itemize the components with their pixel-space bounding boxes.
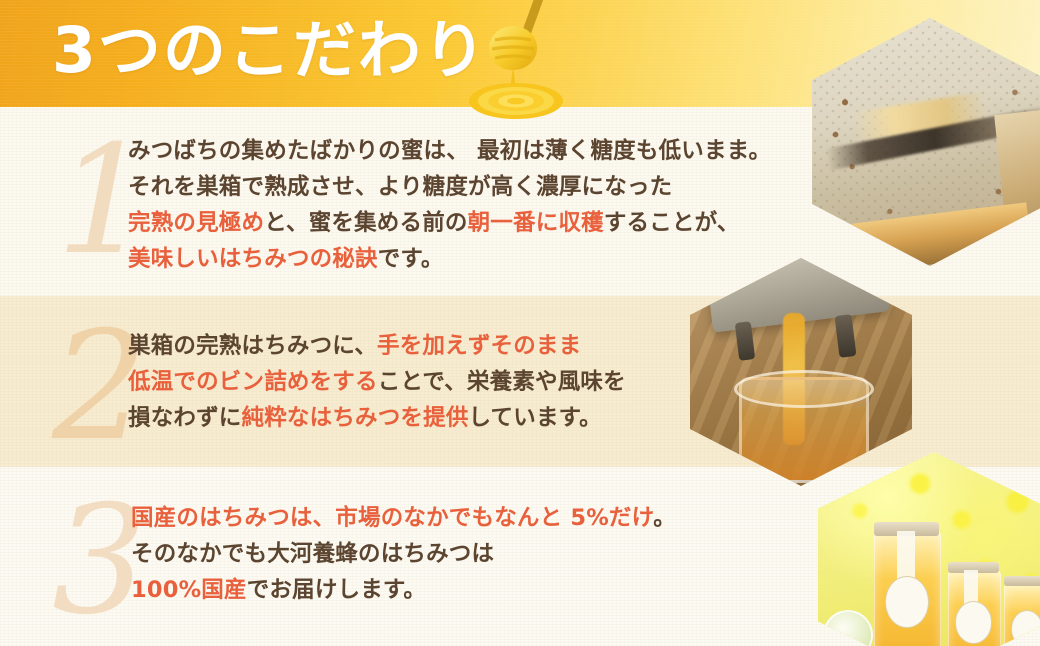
text-line: それを巣箱で熟成させ、より糖度が高く濃厚になった	[128, 169, 771, 205]
plain-phrase: です。	[378, 246, 444, 272]
honey-jar-large-ribbon	[897, 531, 916, 581]
highlighted-phrase: 完熟の見極め	[128, 210, 264, 236]
highlighted-phrase: 手を加えずそのまま	[377, 333, 581, 359]
plain-phrase: ことで、栄養素や風味を	[378, 369, 626, 395]
plain-phrase: 。	[653, 505, 676, 531]
plain-phrase: でお届けします。	[247, 577, 426, 603]
plain-phrase: しています。	[469, 405, 602, 431]
plain-phrase: それを巣箱で熟成させ、より糖度が高く濃厚になった	[128, 174, 672, 200]
text-line: そのなかでも大河養蜂のはちみつは	[131, 536, 676, 572]
page-title: 3つのこだわり	[52, 6, 488, 96]
plain-phrase: 巣箱の完熟はちみつに、	[128, 333, 377, 359]
text-line: 国産のはちみつは、市場のなかでもなんと 5%だけ。	[131, 500, 676, 536]
section-2-text: 巣箱の完熟はちみつに、手を加えずそのまま低温でのビン詰めをすることで、栄養素や風…	[128, 328, 626, 436]
highlighted-phrase: 100%国産	[131, 577, 247, 603]
glass-jar-rim	[734, 370, 873, 408]
plain-phrase: と、蜜を集める前の	[264, 210, 467, 236]
honey-pool-icon	[468, 82, 564, 120]
highlighted-phrase: 美味しいはちみつの秘訣	[128, 246, 378, 272]
infographic-page: 3つのこだわり 1 2 3 みつばちの集め	[0, 0, 1040, 646]
honey-jar-medium-label	[955, 601, 992, 644]
text-line: 100%国産でお届けします。	[131, 572, 676, 608]
section-1-text: みつばちの集めたばかりの蜜は、 最初は薄く糖度も低いまま。それを巣箱で熟成させ、…	[128, 133, 771, 277]
section-3-text: 国産のはちみつは、市場のなかでもなんと 5%だけ。そのなかでも大河養蜂のはちみつ…	[131, 500, 676, 608]
text-line: 損なわずに純粋なはちみつを提供しています。	[128, 400, 626, 436]
text-line: 巣箱の完熟はちみつに、手を加えずそのまま	[128, 328, 626, 364]
highlighted-phrase: 純粋なはちみつを提供	[242, 405, 469, 431]
highlighted-phrase: 朝一番に収穫	[468, 210, 604, 236]
honey-jar-large-label	[885, 576, 929, 628]
text-line: みつばちの集めたばかりの蜜は、 最初は薄く糖度も低いまま。	[128, 133, 771, 169]
text-line: 完熟の見極めと、蜜を集める前の朝一番に収穫することが、	[128, 205, 771, 241]
text-line: 低温でのビン詰めをすることで、栄養素や風味を	[128, 364, 626, 400]
plain-phrase: そのなかでも大河養蜂のはちみつは	[131, 541, 494, 567]
plain-phrase: することが、	[604, 210, 740, 236]
highlighted-phrase: 低温でのビン詰めをする	[128, 369, 378, 395]
highlighted-phrase: 国産のはちみつは、市場のなかでもなんと 5%だけ	[131, 505, 653, 531]
plain-phrase: みつばちの集めたばかりの蜜は、 最初は薄く糖度も低いまま。	[128, 138, 771, 164]
honey-jar-small-lid	[1004, 576, 1040, 586]
plain-phrase: 損なわずに	[128, 405, 242, 431]
text-line: 美味しいはちみつの秘訣です。	[128, 241, 771, 277]
